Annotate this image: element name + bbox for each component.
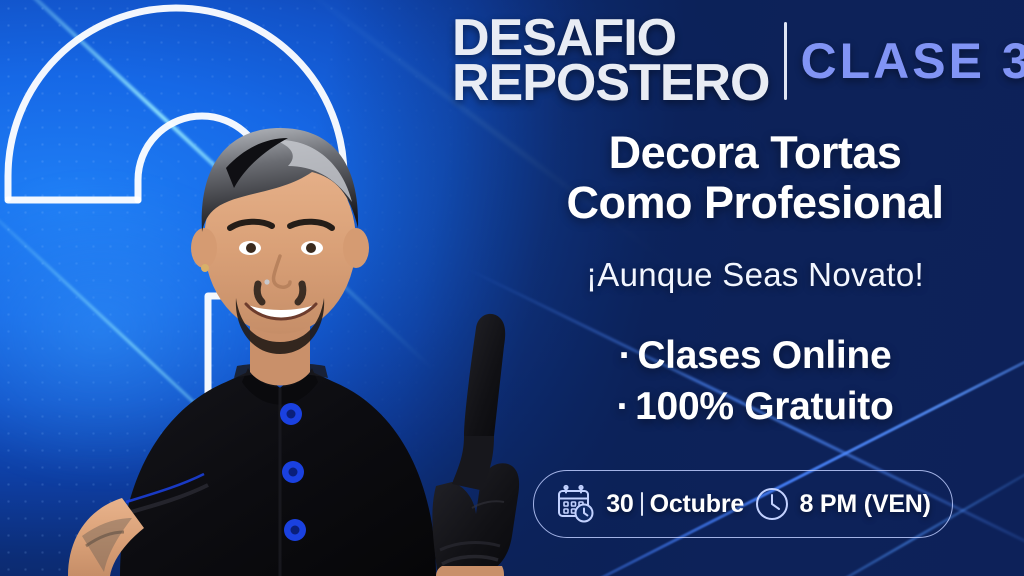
bullet-marker-icon: · (619, 334, 632, 377)
feature-list: ·Clases Online ·100% Gratuito (500, 330, 1010, 433)
event-month: Octubre (650, 490, 744, 519)
brand-headline: DESAFIO REPOSTERO CLASE 3 (452, 16, 1012, 105)
headline-line-2: Como Profesional (500, 178, 1010, 228)
event-time-text: 8 PM (VEN) (799, 490, 930, 519)
clock-icon (754, 486, 790, 522)
brand-name: DESAFIO REPOSTERO (452, 16, 770, 105)
headline-block: Decora Tortas Como Profesional (500, 128, 1010, 227)
tagline: ¡Aunque Seas Novato! (500, 256, 1010, 294)
calendar-clock-icon (555, 483, 597, 525)
list-item: ·100% Gratuito (500, 381, 1010, 432)
headline-line-1: Decora Tortas (500, 128, 1010, 178)
list-item-label: 100% Gratuito (635, 385, 893, 428)
class-label: CLASE 3 (801, 32, 1024, 90)
list-item-label: Clases Online (637, 334, 891, 377)
event-date: 30 Octubre (555, 483, 744, 525)
date-separator-icon (641, 492, 643, 516)
brand-line-2: REPOSTERO (452, 61, 770, 106)
promo-banner: DESAFIO REPOSTERO CLASE 3 Decora Tortas … (0, 0, 1024, 576)
event-day: 30 (606, 490, 633, 519)
bullet-marker-icon: · (616, 385, 629, 428)
event-info-pill: 30 Octubre 8 PM (VEN) (533, 470, 953, 538)
list-item: ·Clases Online (500, 330, 1010, 381)
vertical-divider-icon (784, 22, 787, 100)
event-date-text: 30 Octubre (606, 490, 744, 519)
event-time: 8 PM (VEN) (754, 486, 930, 522)
